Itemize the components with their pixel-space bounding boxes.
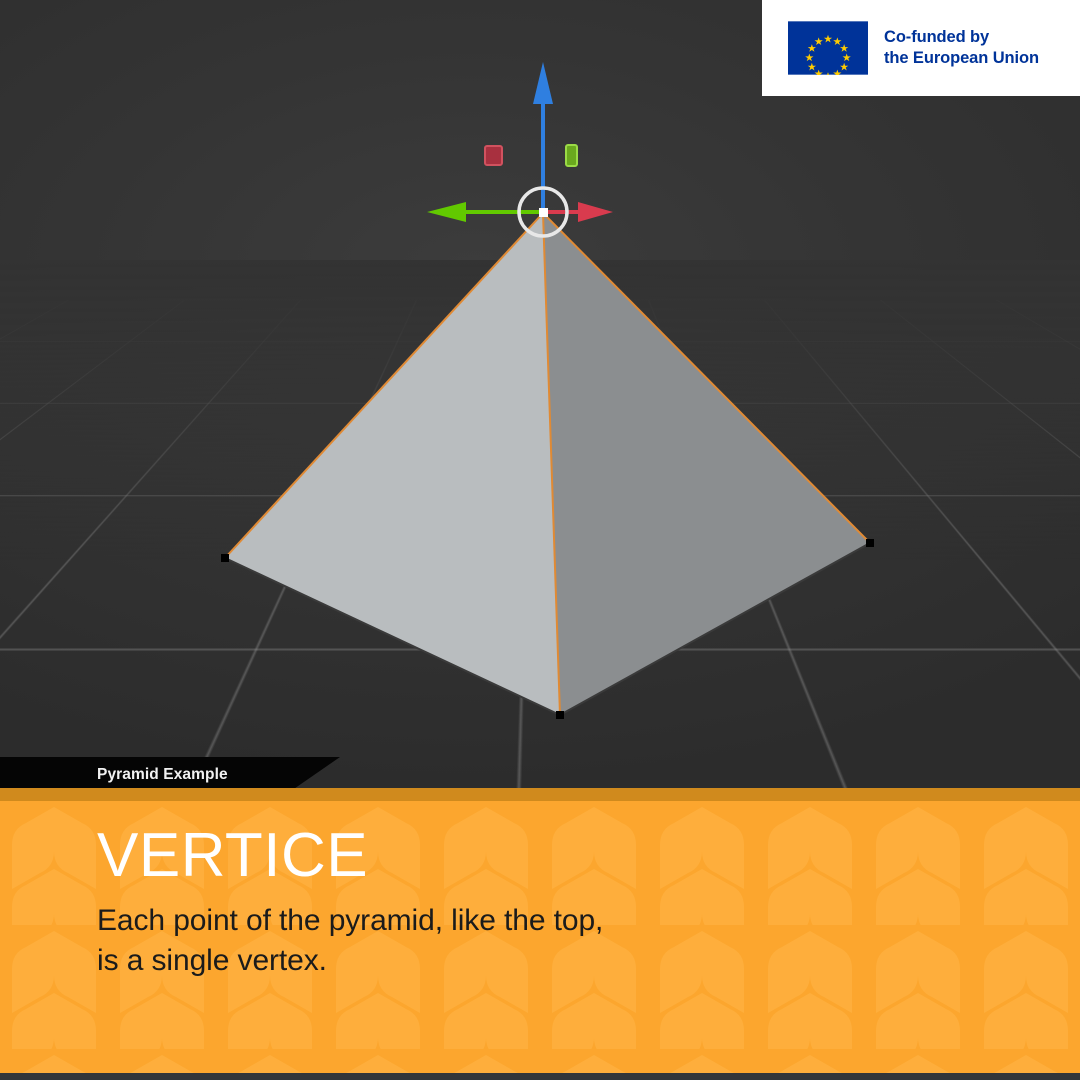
caption-content: VERTICE Each point of the pyramid, like … [0, 801, 1080, 1073]
accent-strip [0, 788, 1080, 801]
caption-body-line2: is a single vertex. [97, 941, 1080, 981]
bottom-bar [0, 1073, 1080, 1080]
eu-logo-text: Co-funded by the European Union [884, 27, 1039, 69]
gizmo-origin-dot[interactable] [539, 208, 548, 217]
caption-body: Each point of the pyramid, like the top,… [97, 901, 1080, 981]
eu-funding-logo: Co-funded by the European Union [762, 0, 1080, 96]
viewport-label-text: Pyramid Example [97, 766, 228, 784]
eu-logo-line2: the European Union [884, 48, 1039, 69]
x-axis-arrow-icon[interactable] [578, 202, 613, 222]
slide-root: Co-funded by the European Union Pyramid … [0, 0, 1080, 1080]
eu-flag-icon [788, 21, 868, 75]
caption-card: VERTICE Each point of the pyramid, like … [0, 801, 1080, 1073]
move-gizmo[interactable] [0, 0, 1080, 800]
caption-headline: VERTICE [97, 825, 1080, 887]
z-axis-arrow-icon[interactable] [533, 62, 553, 104]
3d-viewport[interactable]: Co-funded by the European Union Pyramid … [0, 0, 1080, 800]
x-plane-handle-icon[interactable] [485, 146, 502, 165]
caption-body-line1: Each point of the pyramid, like the top, [97, 901, 1080, 941]
y-plane-handle-icon[interactable] [566, 145, 577, 166]
eu-logo-line1: Co-funded by [884, 27, 1039, 48]
y-axis-arrow-icon[interactable] [427, 202, 466, 222]
